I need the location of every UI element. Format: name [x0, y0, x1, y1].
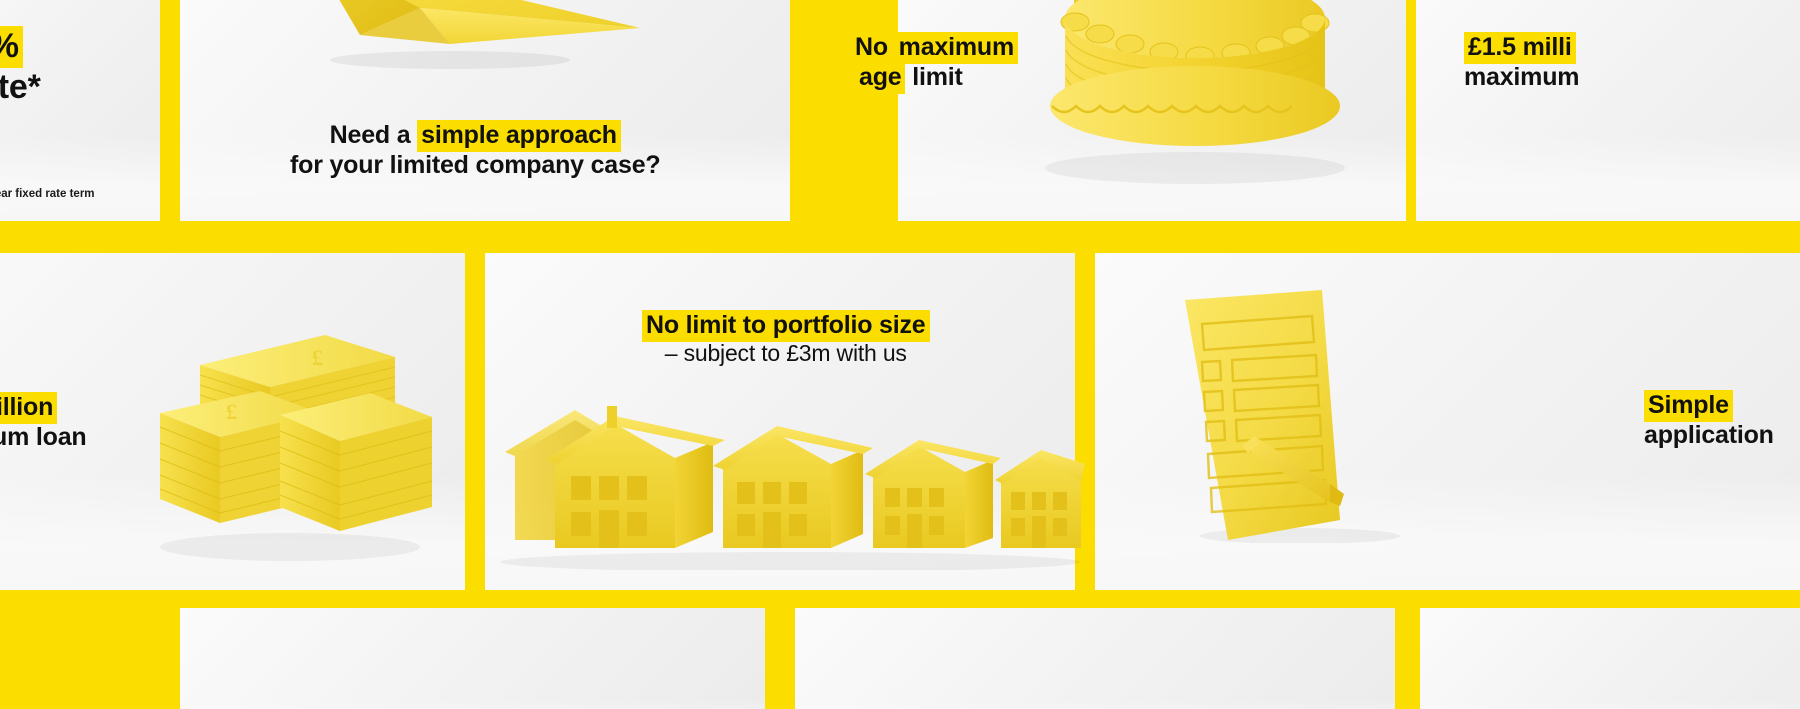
- approach-line1-plain: Need a: [330, 121, 418, 149]
- bottom-row-card-1[interactable]: [180, 608, 765, 709]
- rate-headline-line2: rate*: [0, 67, 41, 108]
- app-line2: application: [1644, 420, 1774, 450]
- app-line1-highlight: Simple: [1644, 390, 1733, 422]
- age-limit-headline: No maximum age limit: [855, 32, 1018, 92]
- rate-card-footnote: ve Year fixed rate term: [0, 188, 95, 200]
- loan-line2: mum loan: [0, 422, 86, 452]
- bottom-row-card-2[interactable]: [795, 608, 1395, 709]
- house: [995, 450, 1085, 548]
- approach-line1-highlight: simple approach: [417, 120, 621, 152]
- application-form-icon: [1180, 288, 1420, 543]
- loan-line1-highlight: million: [0, 392, 57, 424]
- million-line1-highlight: £1.5 milli: [1464, 32, 1576, 64]
- rate-headline-highlight: 5%: [0, 26, 23, 68]
- simple-application-headline: Simple application: [1644, 390, 1774, 450]
- million-line2: maximum: [1464, 62, 1579, 92]
- rate-card-headline: 5% rate*: [0, 26, 41, 108]
- row-of-houses-icon: [495, 390, 1085, 570]
- age-line2-highlight: age: [855, 62, 905, 94]
- portfolio-line2: – subject to £3m with us: [642, 340, 930, 368]
- portfolio-line1-highlight: No limit to portfolio size: [642, 310, 930, 342]
- age-line2-plain: limit: [905, 63, 962, 91]
- million-loan-headline: million mum loan: [0, 392, 86, 452]
- house: [713, 426, 873, 548]
- age-line1-plain: No: [855, 33, 895, 61]
- maximum-loan-headline: £1.5 milli maximum: [1464, 32, 1579, 92]
- approach-line2: for your limited company case?: [290, 150, 661, 180]
- pound-symbol: £: [312, 345, 323, 370]
- bottom-row-card-3[interactable]: [1420, 608, 1800, 709]
- pound-symbol: £: [226, 399, 237, 424]
- simple-approach-headline: Need a simple approach for your limited …: [290, 120, 661, 180]
- paper-plane-icon: [300, 0, 660, 70]
- age-line1-highlight: maximum: [895, 32, 1018, 64]
- panel-grid: 5% rate* ve Year fixed rate term Need a …: [0, 0, 1800, 709]
- birthday-cake-icon: [1030, 0, 1360, 200]
- portfolio-headline: No limit to portfolio size – subject to …: [642, 310, 930, 368]
- money-stacks-icon: £ £: [140, 295, 440, 565]
- house: [865, 440, 1001, 548]
